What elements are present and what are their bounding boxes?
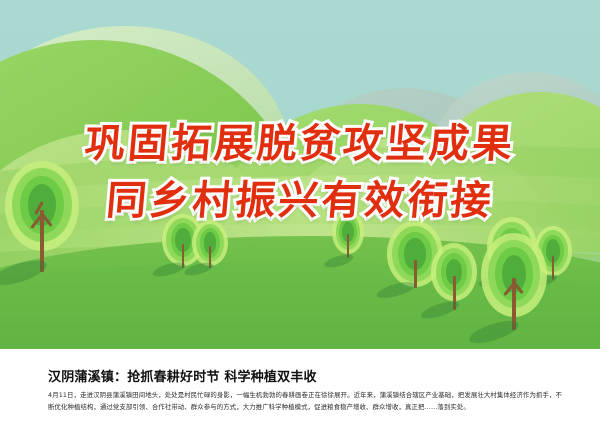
rural-revitalization-banner: 巩固拓展脱贫攻坚成果 同乡村振兴有效衔接: [0, 0, 600, 349]
news-article-page: 巩固拓展脱贫攻坚成果 同乡村振兴有效衔接 汉阴蒲溪镇：抢抓春耕好时节 科学种植双…: [0, 0, 600, 436]
tree-foreground-left: [12, 168, 72, 244]
tree-foreground-midright: [436, 248, 472, 298]
tree-back-2: [196, 224, 224, 266]
article-section: 汉阴蒲溪镇：抢抓春耕好时节 科学种植双丰收 4月11日，走进汉阴县蒲溪镇田间地头…: [0, 349, 600, 436]
tree-back-3: [336, 214, 360, 254]
article-title[interactable]: 汉阴蒲溪镇：抢抓春耕好时节 科学种植双丰收: [48, 366, 568, 385]
article-body-text: 4月11日，走进汉阴县蒲溪镇田间地头，处处是村民忙碌的身影，一幅生机勃勃的春耕画…: [48, 390, 562, 413]
tree-foreground-right: [488, 240, 540, 310]
